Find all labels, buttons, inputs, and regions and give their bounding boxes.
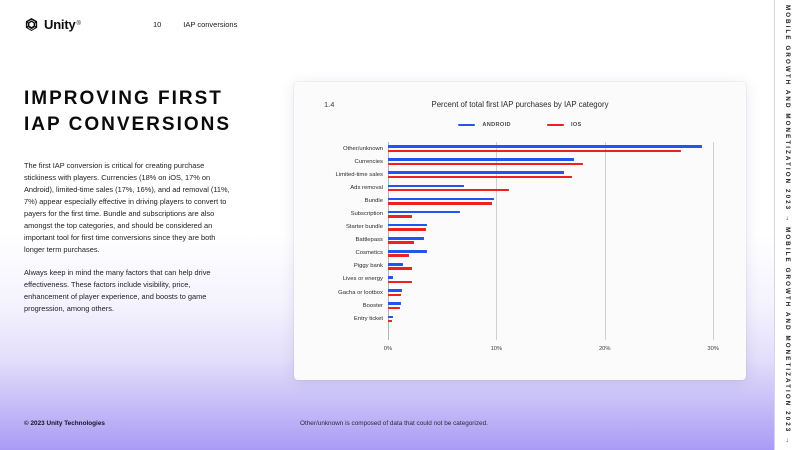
bar-group	[388, 273, 724, 286]
legend-entry-android[interactable]: ANDROID	[458, 122, 511, 128]
body-paragraph-2: Always keep in mind the many factors tha…	[24, 267, 230, 315]
bar-ios[interactable]	[388, 202, 492, 205]
legend-label-android: ANDROID	[482, 122, 511, 128]
bar-group	[388, 142, 724, 155]
bar-ios[interactable]	[388, 294, 401, 297]
bar-android[interactable]	[388, 276, 393, 279]
category-row: Gacha or lootbox	[316, 286, 388, 299]
bar-group	[388, 221, 724, 234]
bar-android[interactable]	[388, 185, 464, 188]
category-label: Ads removal	[350, 185, 383, 191]
section-name: IAP conversions	[183, 20, 237, 29]
bar-group	[388, 286, 724, 299]
category-label: Lives or energy	[343, 276, 383, 282]
footer-note: Other/unknown is composed of data that c…	[300, 420, 488, 427]
chart-card: 1.4 Percent of total first IAP purchases…	[294, 82, 746, 380]
bar-android[interactable]	[388, 211, 460, 214]
bar-ios[interactable]	[388, 320, 392, 323]
bar-group	[388, 247, 724, 260]
category-label: Currencies	[355, 159, 383, 165]
legend-entry-ios[interactable]: IOS	[547, 122, 582, 128]
category-label: Bundle	[365, 198, 383, 204]
bar-group	[388, 260, 724, 273]
category-row: Ads removal	[316, 181, 388, 194]
bar-ios[interactable]	[388, 215, 412, 218]
x-tick-label: 0%	[384, 346, 392, 352]
bar-ios[interactable]	[388, 163, 583, 166]
slide-header: Unity ® 10 IAP conversions	[24, 14, 237, 34]
bar-ios[interactable]	[388, 254, 409, 257]
category-row: Starter bundle	[316, 221, 388, 234]
category-label: Piggy bank	[354, 263, 383, 269]
category-row: Lives or energy	[316, 273, 388, 286]
bar-group	[388, 312, 724, 325]
brand-name: Unity	[44, 17, 76, 32]
category-row: Entry ticket	[316, 312, 388, 325]
bar-group	[388, 299, 724, 312]
page-number: 10	[153, 20, 161, 29]
category-label: Subscription	[351, 211, 383, 217]
bar-android[interactable]	[388, 198, 494, 201]
category-label: Starter bundle	[346, 224, 383, 230]
bar-android[interactable]	[388, 158, 574, 161]
chart-plot: Other/unknownCurrenciesLimited-time sale…	[316, 142, 732, 366]
page-title-line-1: IMPROVING FIRST	[24, 86, 230, 112]
chart-legend: ANDROIDIOS	[294, 122, 746, 128]
chart-title: Percent of total first IAP purchases by …	[294, 100, 746, 109]
bar-ios[interactable]	[388, 267, 412, 270]
category-axis-labels: Other/unknownCurrenciesLimited-time sale…	[316, 142, 388, 325]
category-label: Entry ticket	[354, 316, 383, 322]
category-row: Limited-time sales	[316, 168, 388, 181]
side-rail-text: MOBILE GROWTH AND MONETIZATION 2023 → MO…	[784, 5, 791, 445]
bar-group	[388, 207, 724, 220]
bar-group	[388, 181, 724, 194]
registered-trademark-mark: ®	[77, 21, 81, 27]
category-row: Subscription	[316, 207, 388, 220]
bar-group	[388, 155, 724, 168]
footer-copyright: © 2023 Unity Technologies	[24, 420, 105, 427]
bar-group	[388, 168, 724, 181]
category-row: Battlepass	[316, 234, 388, 247]
category-row: Piggy bank	[316, 260, 388, 273]
bar-android[interactable]	[388, 237, 424, 240]
bar-ios[interactable]	[388, 307, 400, 310]
bar-android[interactable]	[388, 316, 393, 319]
bar-group	[388, 194, 724, 207]
category-label: Gacha or lootbox	[338, 290, 383, 296]
x-tick-label: 20%	[599, 346, 611, 352]
bar-ios[interactable]	[388, 150, 681, 153]
category-row: Currencies	[316, 155, 388, 168]
bar-android[interactable]	[388, 250, 427, 253]
x-tick-label: 10%	[491, 346, 503, 352]
bar-android[interactable]	[388, 171, 564, 174]
category-label: Cosmetics	[356, 250, 384, 256]
plot-area	[388, 142, 724, 340]
legend-label-ios: IOS	[571, 122, 582, 128]
category-row: Bundle	[316, 194, 388, 207]
bar-ios[interactable]	[388, 228, 426, 231]
category-row: Booster	[316, 299, 388, 312]
bar-group	[388, 234, 724, 247]
legend-swatch-android	[458, 124, 475, 126]
legend-swatch-ios	[547, 124, 564, 126]
x-tick-label: 30%	[707, 346, 719, 352]
bar-ios[interactable]	[388, 241, 414, 244]
unity-cube-logo-icon	[24, 17, 39, 32]
bar-android[interactable]	[388, 224, 427, 227]
vertical-side-rail: MOBILE GROWTH AND MONETIZATION 2023 → MO…	[774, 0, 800, 450]
body-paragraph-1: The first IAP conversion is critical for…	[24, 160, 230, 256]
category-row: Other/unknown	[316, 142, 388, 155]
category-label: Battlepass	[355, 237, 383, 243]
bar-android[interactable]	[388, 145, 702, 148]
category-label: Other/unknown	[343, 146, 383, 152]
bar-ios[interactable]	[388, 189, 509, 192]
bar-ios[interactable]	[388, 281, 412, 284]
page-title-line-2: IAP CONVERSIONS	[24, 112, 230, 138]
category-label: Limited-time sales	[336, 172, 383, 178]
left-content-column: IMPROVING FIRST IAP CONVERSIONS The firs…	[24, 86, 230, 315]
page-title: IMPROVING FIRST IAP CONVERSIONS	[24, 86, 230, 138]
bar-android[interactable]	[388, 263, 403, 266]
category-label: Booster	[363, 303, 383, 309]
bar-android[interactable]	[388, 289, 402, 292]
bar-ios[interactable]	[388, 176, 572, 179]
bar-android[interactable]	[388, 302, 401, 305]
x-axis-ticks: 0%10%20%30%	[388, 342, 724, 360]
category-row: Cosmetics	[316, 247, 388, 260]
